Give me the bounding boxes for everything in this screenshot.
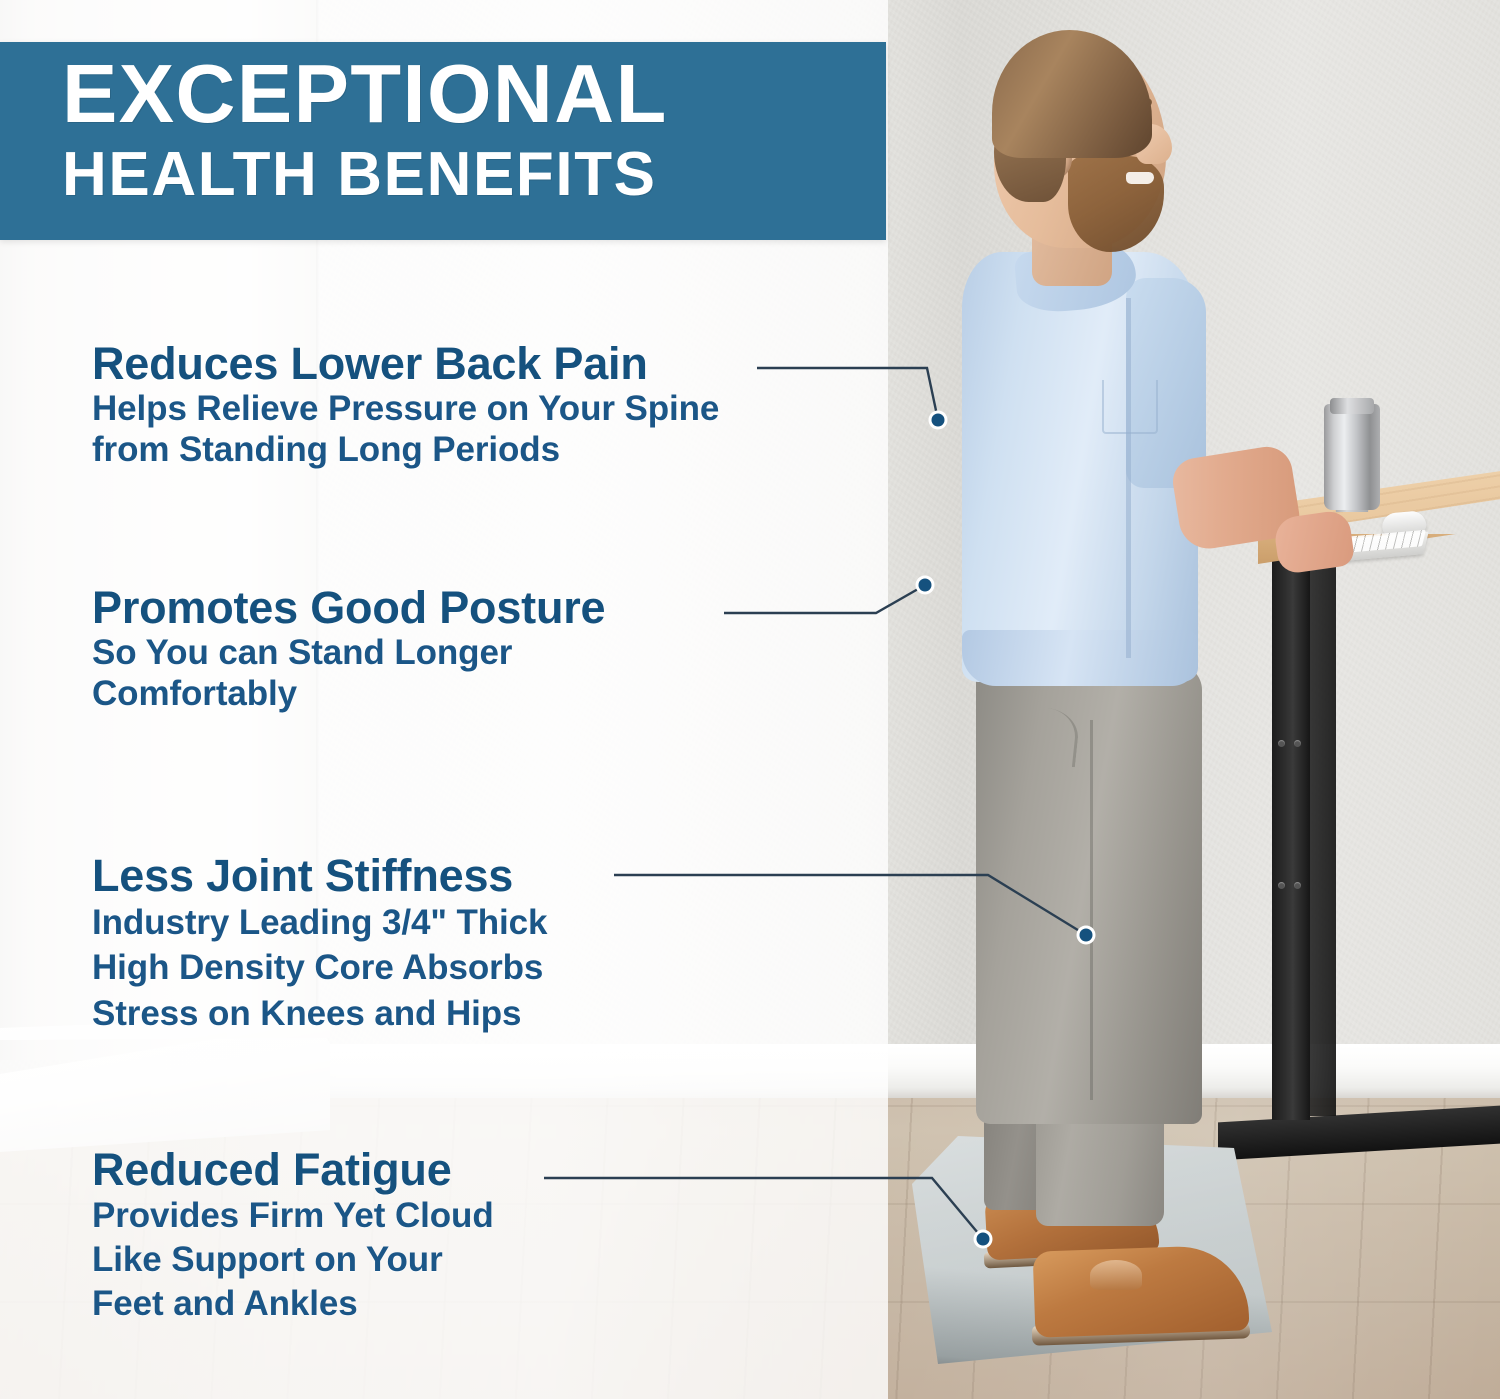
shirt-placket (1126, 298, 1131, 658)
desk-leg-column (1272, 560, 1310, 1120)
benefit-title: Promotes Good Posture (92, 584, 605, 632)
benefit-line: Stress on Knees and Hips (92, 991, 547, 1037)
banner-title-line2: HEALTH BENEFITS (62, 137, 886, 214)
shoe-front (1033, 1244, 1250, 1337)
banner-title-line1: EXCEPTIONAL (62, 52, 886, 137)
benefit-promotes-good-posture: Promotes Good Posture So You can Stand L… (92, 584, 605, 714)
desk-leg-column-inner (1310, 556, 1336, 1116)
person-standing (940, 20, 1270, 1350)
infographic-root: EXCEPTIONAL HEALTH BENEFITS Reduces Lowe… (0, 0, 1500, 1399)
mouth (1126, 172, 1154, 184)
benefit-title: Less Joint Stiffness (92, 852, 547, 900)
benefit-title: Reduces Lower Back Pain (92, 340, 719, 388)
benefit-less-joint-stiffness: Less Joint Stiffness Industry Leading 3/… (92, 852, 547, 1036)
hair (992, 30, 1152, 158)
benefit-line: Like Support on Your (92, 1238, 494, 1282)
benefit-line: Helps Relieve Pressure on Your Spine (92, 388, 719, 429)
benefit-line: Feet and Ankles (92, 1282, 494, 1326)
shoe-laces (1090, 1260, 1142, 1290)
benefit-line: Provides Firm Yet Cloud (92, 1194, 494, 1238)
benefit-line: Comfortably (92, 673, 605, 714)
beard (1068, 156, 1164, 252)
benefit-reduces-lower-back-pain: Reduces Lower Back Pain Helps Relieve Pr… (92, 340, 719, 470)
header-banner: EXCEPTIONAL HEALTH BENEFITS (0, 42, 886, 240)
benefit-title: Reduced Fatigue (92, 1146, 494, 1194)
benefit-line: Industry Leading 3/4" Thick (92, 900, 547, 946)
tumbler (1324, 404, 1380, 510)
shirt-pocket (1102, 380, 1158, 434)
benefit-line: from Standing Long Periods (92, 429, 719, 470)
benefit-line: High Density Core Absorbs (92, 945, 547, 991)
benefit-line: So You can Stand Longer (92, 632, 605, 673)
pants (976, 664, 1202, 1124)
tumbler-lid (1330, 398, 1374, 414)
benefit-reduced-fatigue: Reduced Fatigue Provides Firm Yet Cloud … (92, 1146, 494, 1326)
shirt-hem (962, 630, 1198, 686)
pants-seam (1090, 720, 1093, 1100)
